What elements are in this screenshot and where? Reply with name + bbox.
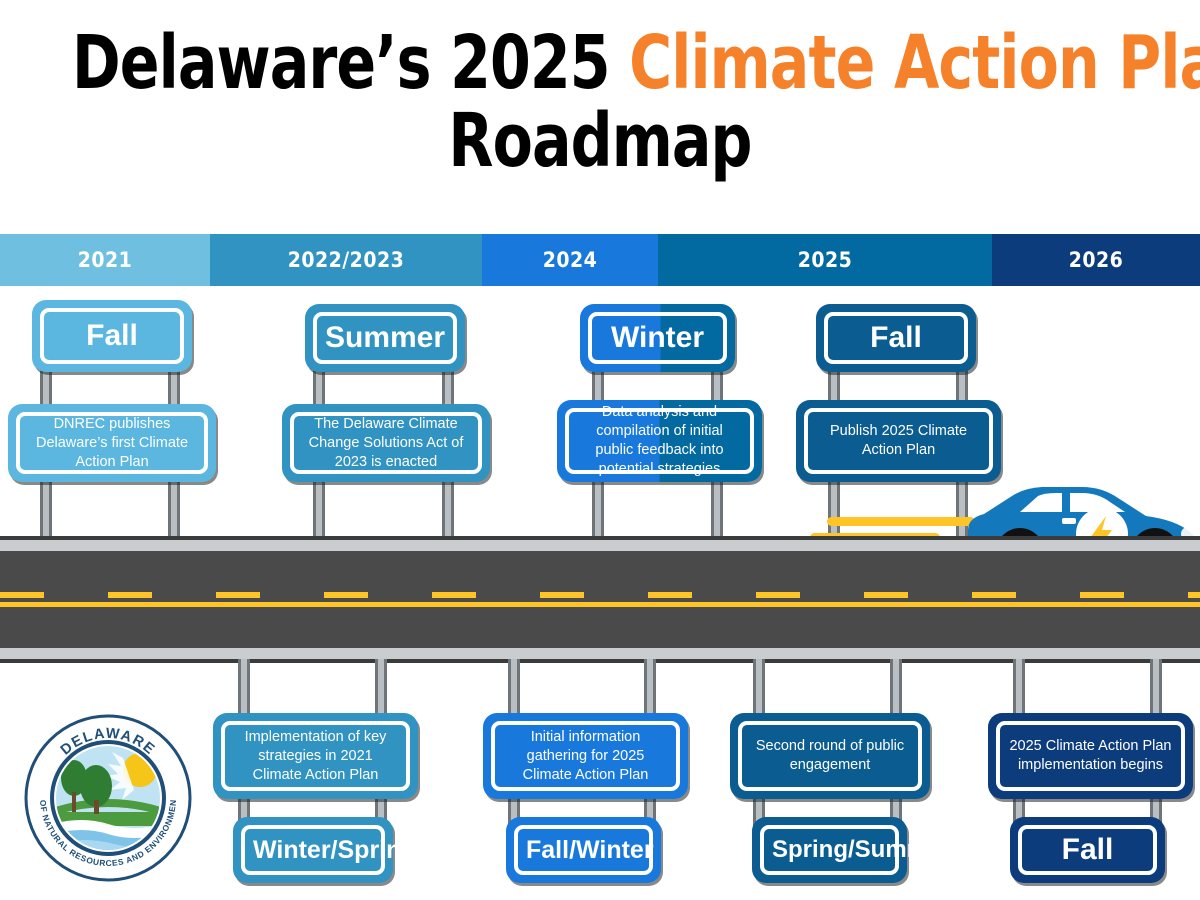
page-title: Delaware’s 2025 Climate Action Plan Road… (0, 24, 1200, 180)
year-segment-2021[interactable]: 2021 (0, 234, 210, 286)
sign-inner-border: Spring/Summer (760, 825, 899, 875)
year-label: 2024 (543, 248, 598, 272)
season-sign[interactable]: Summer (305, 304, 465, 372)
milestone-below-3: Second round of public engagement Spring… (722, 659, 937, 899)
milestone-sign[interactable]: Initial information gathering for 2025 C… (483, 713, 688, 799)
season-label: Fall/Winter (526, 834, 641, 866)
milestone-text: Second round of public engagement (750, 737, 910, 775)
sign-inner-border: Initial information gathering for 2025 C… (491, 721, 680, 791)
milestone-above-2: Summer The Delaware Climate Change Solut… (280, 300, 510, 540)
milestone-sign[interactable]: DNREC publishes Delaware’s first Climate… (8, 404, 216, 482)
sign-inner-border: Winter (588, 312, 727, 364)
milestone-below-4: 2025 Climate Action Plan implementation … (978, 659, 1196, 899)
sign-inner-border: The Delaware Climate Change Solutions Ac… (290, 412, 482, 474)
road-solid-line (0, 602, 1200, 607)
sign-inner-border: Second round of public engagement (738, 721, 922, 791)
sign-inner-border: Fall (1018, 825, 1157, 875)
season-sign[interactable]: Spring/Summer (752, 817, 907, 883)
milestone-text: DNREC publishes Delaware’s first Climate… (28, 415, 196, 472)
milestone-above-3: Winter Data analysis and compilation of … (555, 300, 775, 540)
season-label: Summer (325, 322, 445, 354)
milestone-above-1: Fall DNREC publishes Delaware’s first Cl… (0, 300, 230, 540)
sign-inner-border: Fall/Winter (514, 825, 653, 875)
season-label: Winter/Spring (253, 834, 373, 866)
milestone-text: The Delaware Climate Change Solutions Ac… (302, 415, 470, 472)
year-label: 2025 (798, 248, 853, 272)
title-orange-part: Climate Action Plan (629, 20, 1200, 106)
milestone-text: Initial information gathering for 2025 C… (503, 728, 668, 785)
dnrec-seal-logo: DELAWARE DEPARTMENT OF NATURAL RESOURCES… (22, 712, 194, 884)
season-sign[interactable]: Winter (580, 304, 735, 372)
year-segment-2025[interactable]: 2025 (658, 234, 992, 286)
milestone-text: Implementation of key strategies in 2021… (233, 728, 398, 785)
milestone-text: Data analysis and compilation of initial… (577, 403, 742, 479)
infographic-canvas: Delaware’s 2025 Climate Action Plan Road… (0, 0, 1200, 900)
milestone-sign[interactable]: 2025 Climate Action Plan implementation … (988, 713, 1193, 799)
sign-inner-border: Data analysis and compilation of initial… (565, 408, 754, 474)
milestone-below-2: Initial information gathering for 2025 C… (478, 659, 693, 899)
milestone-text: Publish 2025 Climate Action Plan (816, 422, 981, 460)
season-sign[interactable]: Fall (1010, 817, 1165, 883)
season-label: Fall (1030, 834, 1145, 866)
year-label: 2021 (78, 248, 133, 272)
road-edge-top (0, 536, 1200, 551)
title-black-part: Delaware’s 2025 (72, 20, 629, 106)
season-sign[interactable]: Winter/Spring (233, 817, 393, 883)
milestone-sign[interactable]: Second round of public engagement (730, 713, 930, 799)
year-label: 2022/2023 (288, 248, 405, 272)
sign-inner-border: Fall (824, 312, 968, 364)
milestone-sign[interactable]: Publish 2025 Climate Action Plan (796, 400, 1001, 482)
sign-inner-border: Implementation of key strategies in 2021… (221, 721, 410, 791)
sign-inner-border: Fall (40, 308, 184, 364)
milestone-sign[interactable]: Data analysis and compilation of initial… (557, 400, 762, 482)
sign-inner-border: Summer (313, 312, 457, 364)
sign-inner-border: Publish 2025 Climate Action Plan (804, 408, 993, 474)
title-line-1: Delaware’s 2025 Climate Action Plan (72, 24, 1128, 102)
season-label: Spring/Summer (772, 834, 887, 866)
sign-inner-border: 2025 Climate Action Plan implementation … (996, 721, 1185, 791)
season-sign[interactable]: Fall (32, 300, 192, 372)
milestone-text: 2025 Climate Action Plan implementation … (1008, 737, 1173, 775)
sign-inner-border: DNREC publishes Delaware’s first Climate… (16, 412, 208, 474)
season-label: Winter (600, 322, 715, 354)
milestone-sign[interactable]: Implementation of key strategies in 2021… (213, 713, 418, 799)
season-label: Fall (52, 320, 172, 352)
road-dashed-line (0, 592, 1200, 598)
season-sign[interactable]: Fall (816, 304, 976, 372)
milestone-below-1: Implementation of key strategies in 2021… (205, 659, 420, 899)
season-label: Fall (836, 322, 956, 354)
year-segment-2026[interactable]: 2026 (992, 234, 1200, 286)
year-segment-2024[interactable]: 2024 (482, 234, 658, 286)
year-segment-2022-2023[interactable]: 2022/2023 (210, 234, 482, 286)
title-line-2: Roadmap (72, 102, 1128, 180)
milestone-sign[interactable]: The Delaware Climate Change Solutions Ac… (282, 404, 490, 482)
season-sign[interactable]: Fall/Winter (506, 817, 661, 883)
sign-inner-border: Winter/Spring (241, 825, 385, 875)
year-label: 2026 (1069, 248, 1124, 272)
timeline-year-bar: 2021 2022/2023 2024 2025 2026 (0, 234, 1200, 286)
